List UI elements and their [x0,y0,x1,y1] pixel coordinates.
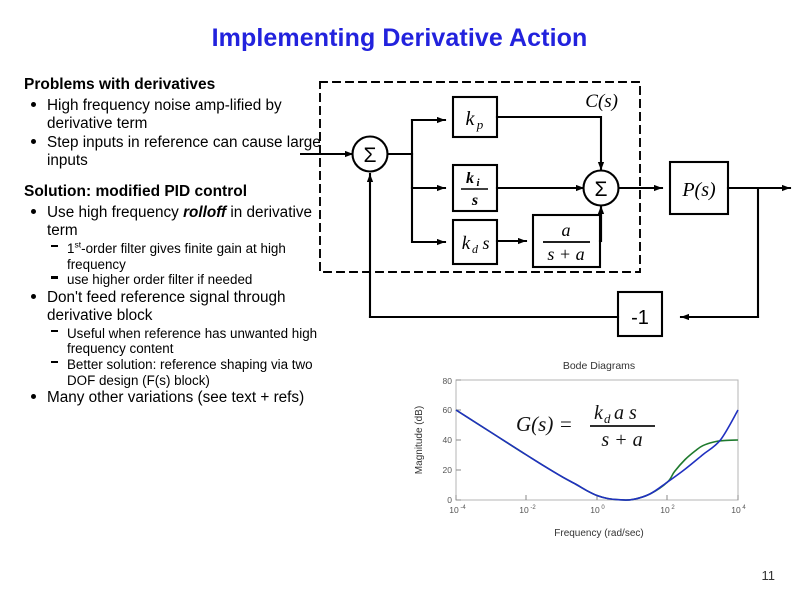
y-tick-label: 0 [447,495,452,505]
svg-text:-2: -2 [530,505,536,511]
svg-text:a: a [562,220,571,240]
y-tick-label: 40 [443,435,453,445]
equation-numerator-k: k [594,402,604,424]
content-text-column: Problems with derivatives High frequency… [24,76,336,408]
sub-bullet-text-post: -order filter gives finite gain at high … [67,241,286,272]
sub-bullet-text-pre: Better solution: reference shaping via t… [67,357,313,388]
block-minus-one-label: -1 [631,307,649,329]
svg-text:s + a: s + a [547,244,584,264]
bullet-list-problems: High frequency noise amp-lified by deriv… [24,97,336,170]
bullet-dot-icon [31,294,36,299]
block-kp [453,97,497,137]
svg-text:s: s [482,233,489,253]
chart-title: Bode Diagrams [563,360,635,372]
svg-text:10: 10 [519,505,529,515]
svg-text:4: 4 [742,505,746,511]
svg-text:k: k [462,233,471,254]
equation-numerator-rest: a s [614,402,637,424]
wire-to-kd [412,154,445,242]
sub-bullet-list: 1st-order filter gives finite gain at hi… [47,241,336,288]
bullet-text-pre: Many other variations (see text + refs) [47,389,304,406]
list-item: High frequency noise amp-lified by deriv… [24,97,336,133]
block-plant-label: P(s) [681,179,716,201]
x-tick-label: 10 0 [590,505,605,515]
bullet-text-emphasis: rolloff [183,204,226,221]
svg-text:10: 10 [660,505,670,515]
svg-text:d: d [472,242,479,256]
bullet-text-pre: Don't feed reference signal through deri… [47,289,285,324]
svg-text:10: 10 [731,505,741,515]
equation-lhs: G(s) = [516,412,573,436]
bullet-dash-icon [51,276,58,278]
bullet-dot-icon [31,394,36,399]
bullet-dash-icon [51,245,58,247]
x-tick-label: 10 -4 [449,505,466,515]
bullet-dash-icon [51,361,58,363]
bullet-dash-icon [51,330,58,332]
svg-text:k: k [466,170,474,187]
list-item: use higher order filter if needed [47,272,336,288]
wire-kp-to-summer2 [497,117,601,170]
list-item: Better solution: reference shaping via t… [47,357,336,388]
section-heading-problems: Problems with derivatives [24,76,336,94]
svg-text:10: 10 [449,505,459,515]
sub-bullet-text-pre: use higher order filter if needed [67,272,252,287]
bullet-text: High frequency noise amp-lified by deriv… [47,97,282,132]
bullet-list-solution: Use high frequency rolloff in derivative… [24,204,336,407]
list-item: Step inputs in reference can cause large… [24,134,336,170]
y-tick-label: 80 [443,376,453,386]
bullet-dot-icon [31,209,36,214]
summer2-symbol: Σ [595,178,608,201]
y-axis-tick-labels: 0 20 40 60 80 [443,376,453,505]
controller-label: C(s) [585,91,618,112]
list-item: Don't feed reference signal through deri… [24,289,336,388]
svg-text:p: p [476,117,484,132]
svg-text:10: 10 [590,505,600,515]
list-item: 1st-order filter gives finite gain at hi… [47,241,336,272]
x-axis-tick-labels: 10 -4 10 -2 10 0 10 2 10 4 [449,505,746,515]
svg-text:k: k [466,108,476,130]
section-heading-solution: Solution: modified PID control [24,183,336,201]
list-item: Many other variations (see text + refs) [24,389,336,407]
plot-frame [456,380,738,500]
y-tick-label: 20 [443,465,453,475]
x-axis-label: Frequency (rad/sec) [554,528,643,539]
svg-text:0: 0 [601,505,605,511]
x-tick-label: 10 2 [660,505,675,515]
x-tick-label: 10 4 [731,505,746,515]
list-item: Useful when reference has unwanted high … [47,326,336,357]
x-tick-label: 10 -2 [519,505,536,515]
y-tick-label: 60 [443,405,453,415]
bullet-dot-icon [31,102,36,107]
svg-text:2: 2 [671,505,675,511]
sub-bullet-text-pre: Useful when reference has unwanted high … [67,326,317,357]
equation-denominator: s + a [601,429,642,451]
bullet-text-pre: Use high frequency [47,204,183,221]
bullet-dot-icon [31,139,36,144]
block-diagram: Σ Σ C(s) k p k i s k [300,70,799,350]
summer1-symbol: Σ [364,144,377,167]
list-item: Use high frequency rolloff in derivative… [24,204,336,288]
bode-diagram-figure: Bode Diagrams 0 20 40 60 80 [408,356,790,546]
sub-bullet-list: Useful when reference has unwanted high … [47,326,336,389]
bullet-text: Step inputs in reference can cause large… [47,134,321,169]
equation-numerator-ksub: d [604,411,611,426]
page-title: Implementing Derivative Action [0,24,799,53]
slide-canvas: Implementing Derivative Action Problems … [0,0,799,599]
svg-text:s: s [471,192,478,209]
y-axis-label: Magnitude (dB) [414,406,425,474]
svg-text:-4: -4 [460,505,466,511]
slide-number: 11 [762,568,776,583]
